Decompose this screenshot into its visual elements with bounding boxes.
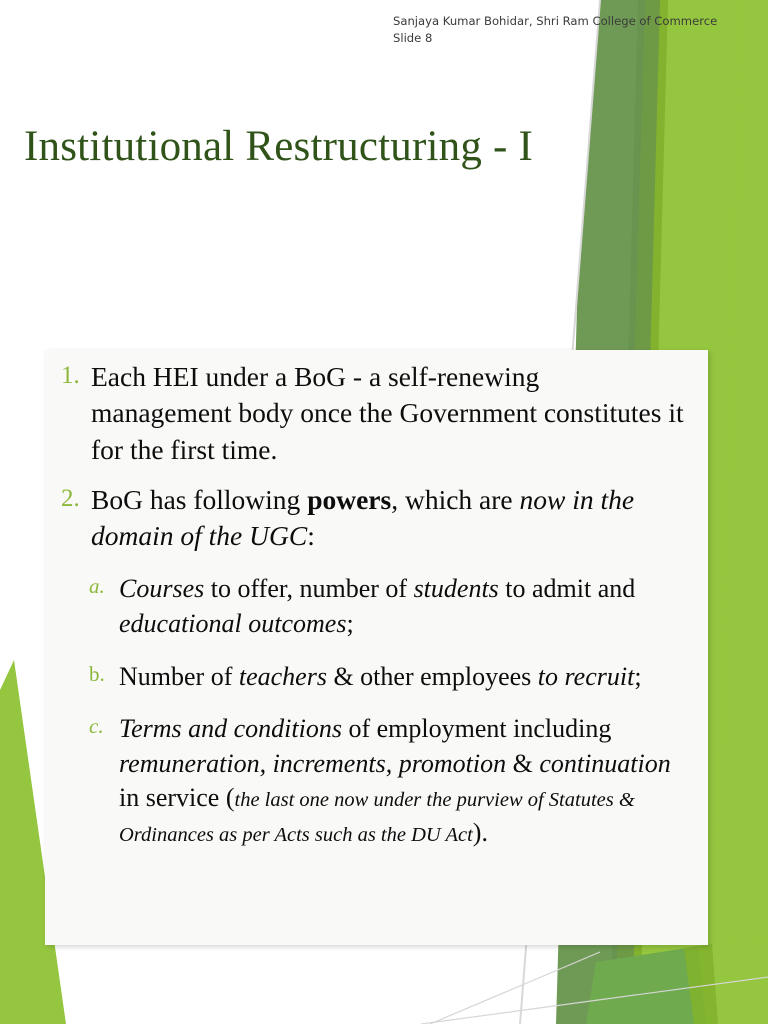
sub-list-marker: c. [89,713,104,741]
list-item: 1. Each HEI under a BoG - a self-renewin… [53,359,684,468]
slide: Sanjaya Kumar Bohidar, Shri Ram College … [0,0,768,1024]
list-marker: 1. [61,359,80,392]
deco-quad-bottom-right-mid [684,944,718,1024]
sub-list-item: c. Terms and conditions of employment in… [53,712,684,850]
sub-list-marker: b. [89,661,105,689]
content-list: 1. Each HEI under a BoG - a self-renewin… [45,350,708,851]
sub-list-marker: a. [89,573,105,601]
deco-diagonal-hairline [421,945,768,1024]
list-item: 2. BoG has following powers, which are n… [53,482,684,555]
header-note: Sanjaya Kumar Bohidar, Shri Ram College … [393,13,763,48]
sub-list-item-text: Terms and conditions of employment inclu… [119,714,671,847]
sub-list-item-text: Courses to offer, number of students to … [119,574,635,638]
deco-quad-bottom-right-bright [698,940,768,1024]
list-marker: 2. [61,482,80,515]
content-card: 1. Each HEI under a BoG - a self-renewin… [45,350,708,945]
deco-quad-bottom-right [592,952,768,1024]
page-title: Institutional Restructuring - I [24,122,533,171]
header-slide-number: Slide 8 [393,30,763,47]
sub-list-item-text: Number of teachers & other employees to … [119,662,642,691]
header-author: Sanjaya Kumar Bohidar, Shri Ram College … [393,13,763,30]
list-item-text: Each HEI under a BoG - a self-renewing m… [91,361,684,465]
sub-list-item: a. Courses to offer, number of students … [53,572,684,641]
list-item-text: BoG has following powers, which are now … [91,484,634,551]
deco-quad-bottom-right-fill [586,946,712,1024]
deco-band-bright-far-right [700,0,768,1024]
sub-list-item: b. Number of teachers & other employees … [53,660,684,695]
deco-diagonal-hairline-upper [430,952,600,1024]
